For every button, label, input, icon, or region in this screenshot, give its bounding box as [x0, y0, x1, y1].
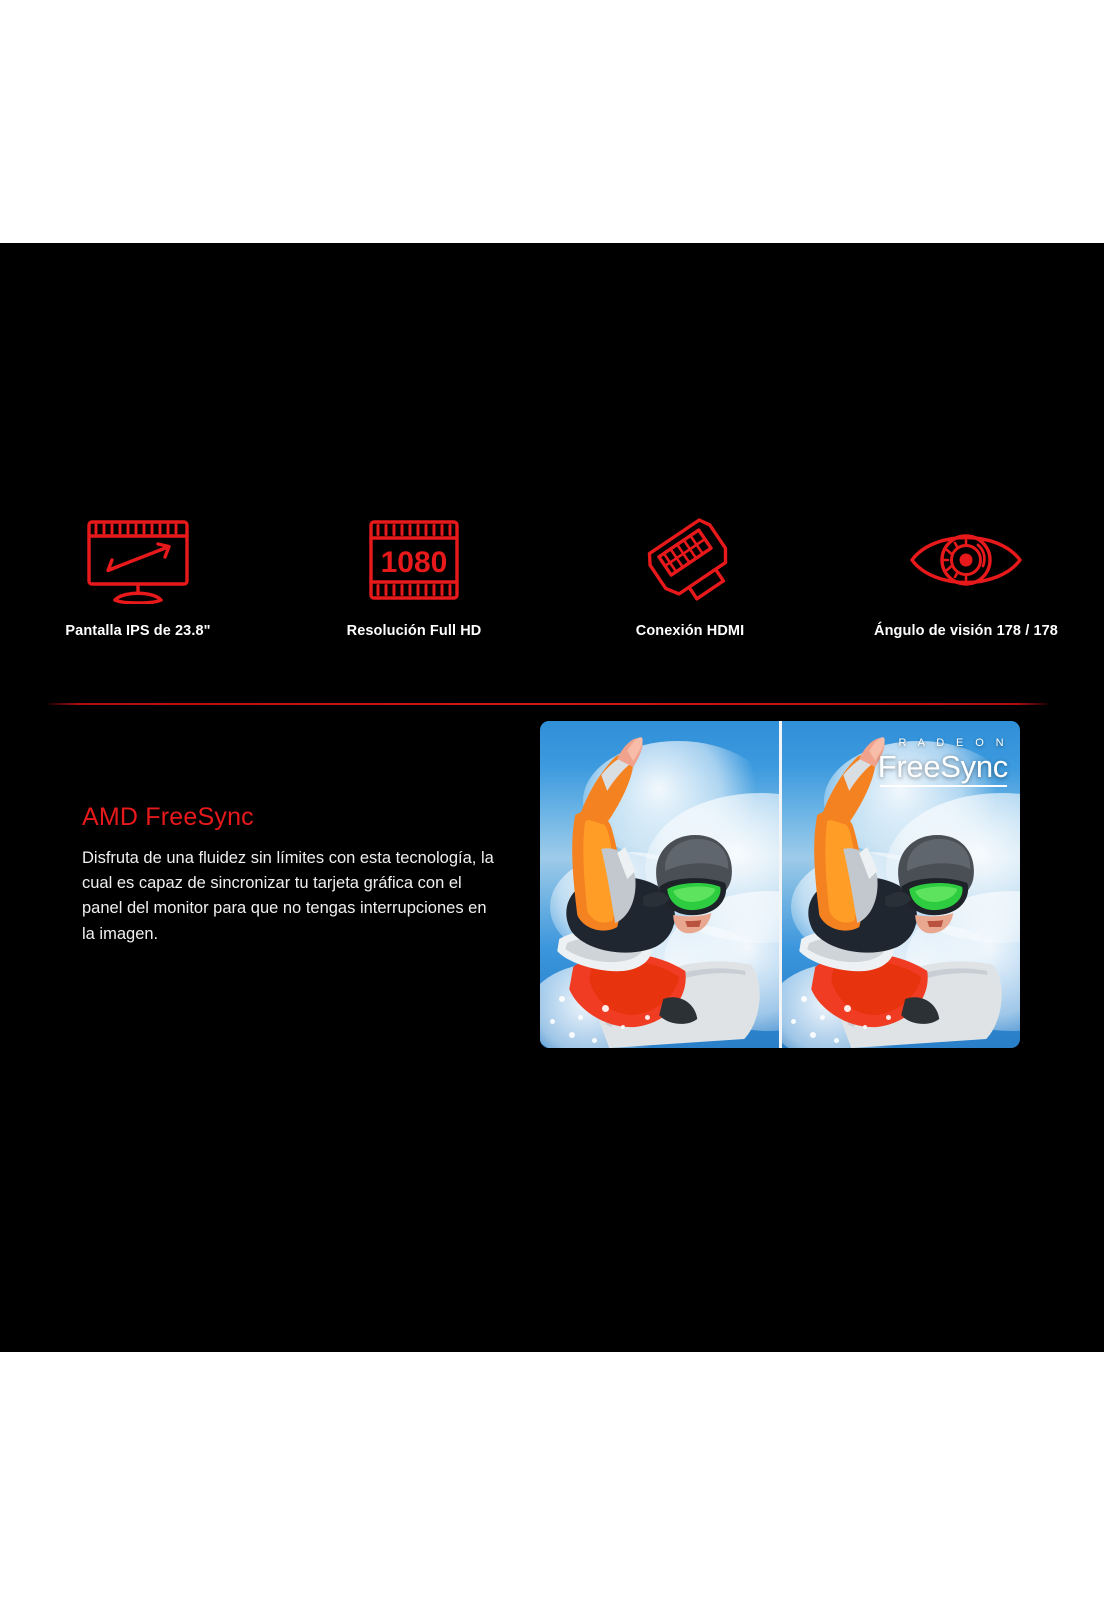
monitor-diagonal-icon [79, 515, 197, 605]
feature-item-viewing-angle: Ángulo de visión 178 / 178 [828, 515, 1104, 639]
feature-label: Conexión HDMI [636, 623, 744, 639]
freesync-description: Disfruta de una fluidez sin límites con … [82, 846, 502, 947]
feature-item-display: Pantalla IPS de 23.8" [0, 515, 276, 639]
product-feature-panel: Pantalla IPS de 23.8" [0, 243, 1104, 1352]
freesync-section: AMD FreeSync Disfruta de una fluidez sin… [0, 713, 1104, 1073]
film-strip-1080-icon: 1080 [364, 515, 464, 605]
freesync-text-block: AMD FreeSync Disfruta de una fluidez sin… [82, 803, 502, 947]
snowboarder-figure [782, 721, 1021, 1048]
feature-list: Pantalla IPS de 23.8" [0, 515, 1104, 639]
freesync-title: AMD FreeSync [82, 803, 502, 832]
freesync-pane-right: R A D E O N FreeSync [779, 721, 1021, 1048]
feature-label: Pantalla IPS de 23.8" [65, 623, 210, 639]
feature-label: Ángulo de visión 178 / 178 [874, 623, 1058, 639]
feature-label: Resolución Full HD [347, 623, 482, 639]
section-divider [48, 703, 1048, 705]
freesync-pane-left [540, 721, 779, 1048]
feature-item-resolution: 1080 Resolución Full HD [276, 515, 552, 639]
freesync-comparison-image: R A D E O N FreeSync [540, 721, 1020, 1048]
eye-icon [904, 515, 1028, 605]
snowboarder-figure [540, 721, 779, 1048]
hdmi-connector-icon [638, 515, 742, 605]
feature-item-hdmi: Conexión HDMI [552, 515, 828, 639]
film-strip-icon-text: 1080 [381, 546, 448, 579]
